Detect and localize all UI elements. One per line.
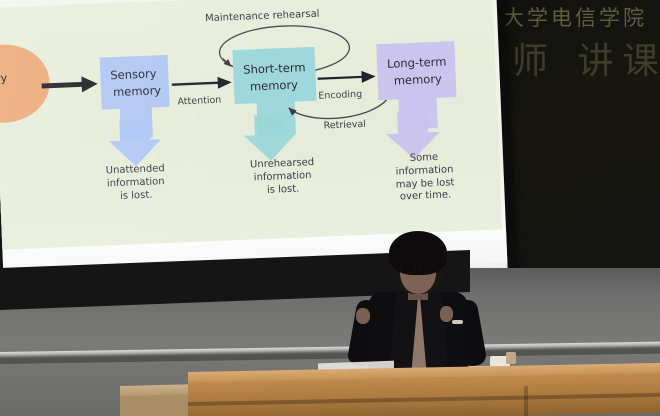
blackboard-text-bottom: 师 讲课 — [512, 32, 660, 84]
loss-note-sensory: Unattended information is lost. — [95, 163, 177, 205]
svg-text:Long-term: Long-term — [387, 54, 447, 70]
slide-canvas: ory ut Sensory memory Attention — [0, 0, 502, 250]
svg-text:Encoding: Encoding — [318, 89, 362, 102]
loss-note-short-term: Unrehearsed information is lost. — [239, 156, 327, 198]
wristwatch — [452, 320, 463, 324]
glasses-bridge — [414, 266, 422, 267]
svg-text:ory: ory — [0, 71, 8, 85]
svg-text:memory: memory — [250, 78, 299, 94]
podium-seam — [524, 386, 528, 416]
blackboard-text-top: 大学电信学院 — [503, 2, 647, 32]
svg-text:Sensory: Sensory — [110, 66, 157, 82]
svg-text:memory: memory — [394, 72, 443, 88]
presenter-right-hand — [440, 306, 453, 322]
lecture-hall-photo: 大学电信学院 师 讲课 — [0, 0, 660, 416]
svg-text:memory: memory — [113, 83, 162, 99]
svg-text:Attention: Attention — [177, 95, 221, 108]
svg-text:Maintenance rehearsal: Maintenance rehearsal — [205, 9, 320, 25]
presenter-left-hand — [356, 308, 370, 324]
podium-object-tan — [506, 352, 516, 364]
svg-text:Short-term: Short-term — [243, 60, 306, 77]
memory-model-diagram: ory ut Sensory memory Attention — [0, 0, 502, 250]
loss-note-long-term: Some information may be lost over time. — [381, 151, 469, 206]
svg-text:Retrieval: Retrieval — [323, 119, 366, 132]
